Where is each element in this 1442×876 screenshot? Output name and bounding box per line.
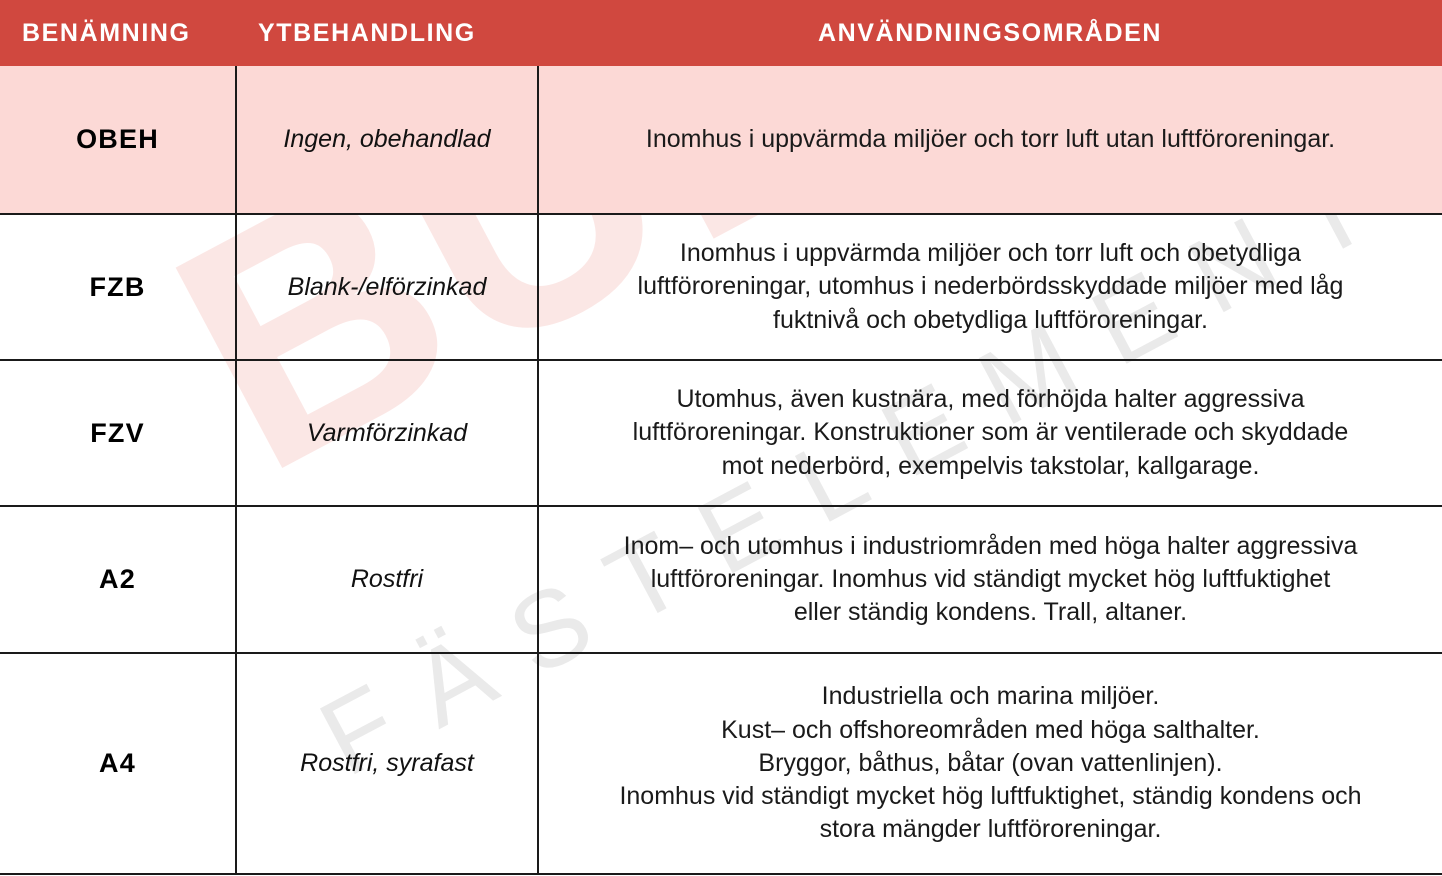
- cell-ytbehandling: Ingen, obehandlad: [236, 66, 538, 214]
- column-header-anvandningsomraden: ANVÄNDNINGSOMRÅDEN: [538, 0, 1442, 66]
- table-row: OBEH Ingen, obehandlad Inomhus i uppvärm…: [0, 66, 1442, 214]
- cell-ytbehandling: Rostfri, syrafast: [236, 653, 538, 874]
- surface-treatment-table-container: BULTAB FÄSTELEMENT BENÄMNING YTBEHANDLIN…: [0, 0, 1442, 876]
- cell-anvandningsomraden: Inomhus i uppvärmda miljöer och torr luf…: [538, 66, 1442, 214]
- description-line: Utomhus, även kustnära, med förhöjda hal…: [557, 383, 1424, 416]
- table-row: A2 Rostfri Inom– och utomhus i industrio…: [0, 506, 1442, 653]
- cell-benamning: FZB: [0, 214, 236, 360]
- cell-anvandningsomraden: Industriella och marina miljöer. Kust– o…: [538, 653, 1442, 874]
- cell-benamning: A4: [0, 653, 236, 874]
- table-row: A4 Rostfri, syrafast Industriella och ma…: [0, 653, 1442, 874]
- description-line: fuktnivå och obetydliga luftföroreningar…: [557, 304, 1424, 337]
- cell-benamning: FZV: [0, 360, 236, 506]
- cell-anvandningsomraden: Inomhus i uppvärmda miljöer och torr luf…: [538, 214, 1442, 360]
- cell-benamning: OBEH: [0, 66, 236, 214]
- cell-anvandningsomraden: Utomhus, även kustnära, med förhöjda hal…: [538, 360, 1442, 506]
- column-header-benamning: BENÄMNING: [0, 0, 236, 66]
- cell-benamning: A2: [0, 506, 236, 653]
- description-line: Bryggor, båthus, båtar (ovan vattenlinje…: [557, 747, 1424, 780]
- description-line: Inomhus i uppvärmda miljöer och torr luf…: [557, 237, 1424, 270]
- table-row: FZB Blank-/elförzinkad Inomhus i uppvärm…: [0, 214, 1442, 360]
- surface-treatment-table: BENÄMNING YTBEHANDLING ANVÄNDNINGSOMRÅDE…: [0, 0, 1442, 875]
- description-line: luftföroreningar. Konstruktioner som är …: [557, 416, 1424, 449]
- table-body: OBEH Ingen, obehandlad Inomhus i uppvärm…: [0, 66, 1442, 874]
- description-line: Inom– och utomhus i industriområden med …: [557, 530, 1424, 563]
- description-line: Inomhus i uppvärmda miljöer och torr luf…: [557, 123, 1424, 156]
- description-line: luftföroreningar. Inomhus vid ständigt m…: [557, 563, 1424, 596]
- cell-anvandningsomraden: Inom– och utomhus i industriområden med …: [538, 506, 1442, 653]
- cell-ytbehandling: Varmförzinkad: [236, 360, 538, 506]
- description-line: eller ständig kondens. Trall, altaner.: [557, 596, 1424, 629]
- description-line: Kust– och offshoreområden med höga salth…: [557, 714, 1424, 747]
- description-line: Industriella och marina miljöer.: [557, 680, 1424, 713]
- table-header: BENÄMNING YTBEHANDLING ANVÄNDNINGSOMRÅDE…: [0, 0, 1442, 66]
- description-line: luftföroreningar, utomhus i nederbördssk…: [557, 270, 1424, 303]
- table-header-row: BENÄMNING YTBEHANDLING ANVÄNDNINGSOMRÅDE…: [0, 0, 1442, 66]
- description-line: stora mängder luftföroreningar.: [557, 813, 1424, 846]
- cell-ytbehandling: Rostfri: [236, 506, 538, 653]
- description-line: Inomhus vid ständigt mycket hög luftfukt…: [557, 780, 1424, 813]
- description-line: mot nederbörd, exempelvis takstolar, kal…: [557, 450, 1424, 483]
- cell-ytbehandling: Blank-/elförzinkad: [236, 214, 538, 360]
- column-header-ytbehandling: YTBEHANDLING: [236, 0, 538, 66]
- table-row: FZV Varmförzinkad Utomhus, även kustnära…: [0, 360, 1442, 506]
